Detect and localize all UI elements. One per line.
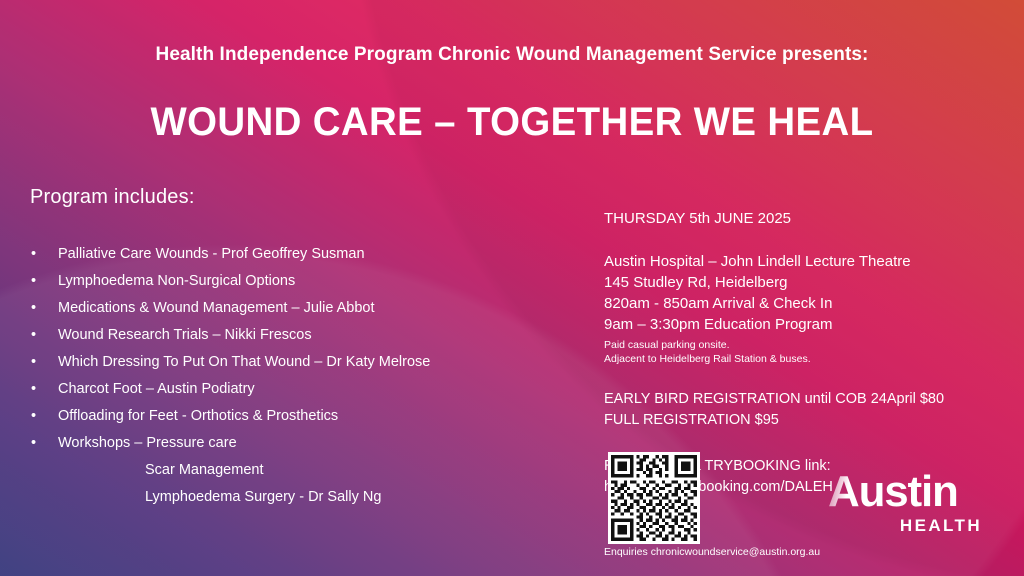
logo-wordmark: Austin: [828, 470, 984, 514]
bullet-icon: •: [31, 430, 36, 457]
list-item-label: Charcot Foot – Austin Podiatry: [58, 381, 255, 397]
parking-note: Paid casual parking onsite.: [604, 338, 1004, 352]
enquiries-line: Enquiries chronicwoundservice@austin.org…: [604, 545, 820, 559]
program-heading: Program includes:: [30, 186, 550, 209]
list-item-label: Lymphoedema Non-Surgical Options: [58, 273, 295, 289]
travel-notes: Paid casual parking onsite. Adjacent to …: [604, 338, 1004, 366]
list-item-label: Medications & Wound Management – Julie A…: [58, 300, 375, 316]
list-item-label: Offloading for Feet - Orthotics & Prosth…: [58, 408, 338, 424]
program-bullet-list: • Palliative Care Wounds - Prof Geoffrey…: [30, 241, 550, 457]
logo-subtext: HEALTH: [828, 516, 984, 536]
presenter-line: Health Independence Program Chronic Woun…: [0, 44, 1024, 66]
list-item: • Lymphoedema Non-Surgical Options: [30, 268, 550, 295]
list-item: • Medications & Wound Management – Julie…: [30, 295, 550, 322]
austin-health-logo: Austin HEALTH: [828, 470, 984, 536]
program-time: 9am – 3:30pm Education Program: [604, 314, 1004, 335]
venue-block: Austin Hospital – John Lindell Lecture T…: [604, 251, 1004, 335]
bullet-icon: •: [31, 403, 36, 430]
list-item-label: Workshops – Pressure care: [58, 435, 237, 451]
list-item: Lymphoedema Surgery - Dr Sally Ng: [30, 484, 550, 511]
list-item-label: Which Dressing To Put On That Wound – Dr…: [58, 354, 430, 370]
list-item: • Charcot Foot – Austin Podiatry: [30, 376, 550, 403]
qr-code[interactable]: [598, 452, 710, 544]
bullet-icon: •: [31, 349, 36, 376]
event-date: THURSDAY 5th JUNE 2025: [604, 208, 1004, 230]
event-flyer: Health Independence Program Chronic Woun…: [0, 0, 1024, 576]
bullet-icon: •: [31, 268, 36, 295]
list-item-label: Wound Research Trials – Nikki Frescos: [58, 327, 312, 343]
program-column: Program includes: • Palliative Care Woun…: [30, 186, 550, 511]
full-price: FULL REGISTRATION $95: [604, 410, 1004, 431]
arrival-time: 820am - 850am Arrival & Check In: [604, 293, 1004, 314]
list-item: • Workshops – Pressure care: [30, 430, 550, 457]
transport-note: Adjacent to Heidelberg Rail Station & bu…: [604, 352, 1004, 366]
venue-name: Austin Hospital – John Lindell Lecture T…: [604, 251, 1004, 272]
page-title: WOUND CARE – TOGETHER WE HEAL: [20, 100, 1003, 145]
pricing-block: EARLY BIRD REGISTRATION until COB 24Apri…: [604, 389, 1004, 431]
list-item: • Which Dressing To Put On That Wound – …: [30, 349, 550, 376]
list-item: • Offloading for Feet - Orthotics & Pros…: [30, 403, 550, 430]
list-item: • Wound Research Trials – Nikki Frescos: [30, 322, 550, 349]
list-item: Scar Management: [30, 457, 550, 484]
early-bird-price: EARLY BIRD REGISTRATION until COB 24Apri…: [604, 389, 1004, 410]
bullet-icon: •: [31, 241, 36, 268]
venue-address: 145 Studley Rd, Heidelberg: [604, 272, 1004, 293]
list-item: • Palliative Care Wounds - Prof Geoffrey…: [30, 241, 550, 268]
list-item-label: Palliative Care Wounds - Prof Geoffrey S…: [58, 246, 365, 262]
bullet-icon: •: [31, 322, 36, 349]
bullet-icon: •: [31, 376, 36, 403]
workshop-sub-list: Scar Management Lymphoedema Surgery - Dr…: [30, 457, 550, 511]
bullet-icon: •: [31, 295, 36, 322]
